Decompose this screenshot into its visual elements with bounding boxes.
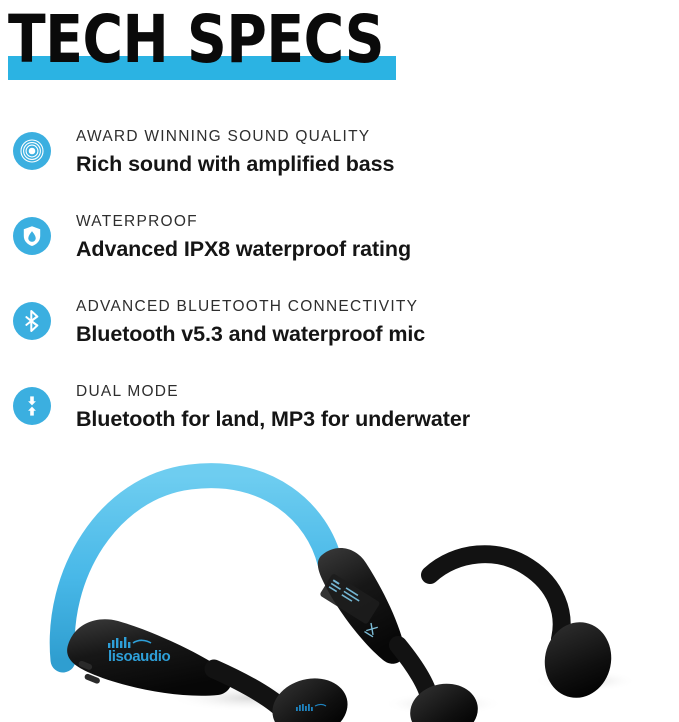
page-title-block: TECH SPECS xyxy=(8,2,648,82)
feature-text-sound-quality: AWARD WINNING SOUND QUALITY Rich sound w… xyxy=(76,126,669,179)
headphones-illustration: lisoaudio xyxy=(0,455,679,722)
page-title: TECH SPECS xyxy=(8,2,384,78)
feature-item-waterproof: WATERPROOF Advanced IPX8 waterproof rati… xyxy=(0,203,679,288)
feature-item-bluetooth: ADVANCED BLUETOOTH CONNECTIVITY Bluetoot… xyxy=(0,288,679,373)
feature-item-dual-mode: DUAL MODE Bluetooth for land, MP3 for un… xyxy=(0,373,679,458)
product-image: lisoaudio xyxy=(0,455,679,722)
shield-waterdrop-icon xyxy=(13,217,51,255)
bluetooth-icon xyxy=(13,302,51,340)
feature-text-waterproof: WATERPROOF Advanced IPX8 waterproof rati… xyxy=(76,211,669,264)
feature-title: Bluetooth v5.3 and waterproof mic xyxy=(76,320,669,349)
dual-arrows-icon xyxy=(13,387,51,425)
feature-kicker: AWARD WINNING SOUND QUALITY xyxy=(76,126,669,148)
feature-item-sound-quality: AWARD WINNING SOUND QUALITY Rich sound w… xyxy=(0,118,679,203)
feature-kicker: WATERPROOF xyxy=(76,211,669,233)
sound-wave-record-icon xyxy=(13,132,51,170)
feature-title: Rich sound with amplified bass xyxy=(76,150,669,179)
feature-list: AWARD WINNING SOUND QUALITY Rich sound w… xyxy=(0,118,679,458)
feature-title: Advanced IPX8 waterproof rating xyxy=(76,235,669,264)
feature-kicker: DUAL MODE xyxy=(76,381,669,403)
feature-text-bluetooth: ADVANCED BLUETOOTH CONNECTIVITY Bluetoot… xyxy=(76,296,669,349)
svg-text:lisoaudio: lisoaudio xyxy=(108,648,170,665)
feature-kicker: ADVANCED BLUETOOTH CONNECTIVITY xyxy=(76,296,669,318)
feature-title: Bluetooth for land, MP3 for underwater xyxy=(76,405,669,434)
feature-text-dual-mode: DUAL MODE Bluetooth for land, MP3 for un… xyxy=(76,381,669,434)
